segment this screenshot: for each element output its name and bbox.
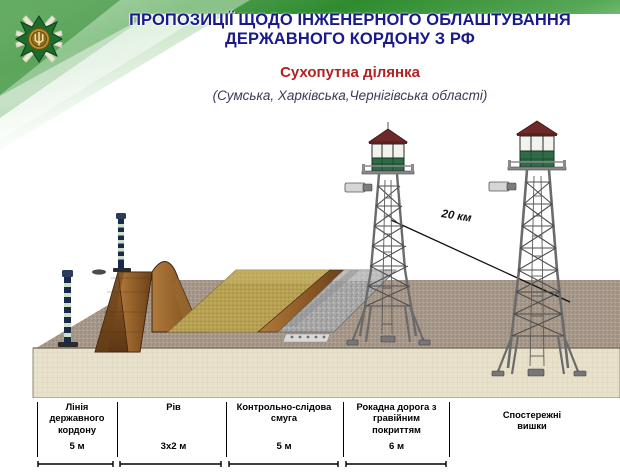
measurement-legend: Лініядержавногокордону 5 м Рів 3х2 м Кон… [0,400,620,465]
legend-dimension-2: 5 м [228,441,340,452]
legend-label-2: Контрольно-слідовасмуга [228,402,340,425]
page-title-line-1: ПРОПОЗИЦІЇ ЩОДО ІНЖЕНЕРНОГО ОБЛАШТУВАННЯ [129,11,571,29]
legend-cell-linia-derzhavnoho-kordonu: Лініядержавногокордону 5 м [38,402,116,460]
legend-dimension-0: 5 м [38,441,116,452]
page-subtitle: Сухопутна ділянка [86,64,614,81]
legend-dimension-3: 6 м [345,441,448,452]
page-regions-note: (Сумська, Харківська,Чернігівська област… [86,88,614,103]
dimension-ticks [0,456,620,465]
page-title: ПРОПОЗИЦІЇ ЩОДО ІНЖЕНЕРНОГО ОБЛАШТУВАННЯ… [86,11,614,49]
legend-separator-3 [343,402,344,457]
legend-cell-kontrolno-slidova-smuha: Контрольно-слідовасмуга 5 м [228,402,340,460]
searchlight-left [345,183,372,192]
page-title-line-2: ДЕРЖАВНОГО КОРДОНУ З РФ [86,30,614,49]
ukrainian-border-guard-cross-emblem [13,13,65,65]
legend-separator-1 [117,402,118,457]
distance-label: 20 км [440,208,473,225]
legend-separator-0 [37,402,38,457]
legend-cell-rokadna-doroha: Рокадна дорога згравійнимпокриттям 6 м [345,402,448,460]
legend-dimension-1: 3х2 м [120,441,227,452]
legend-separator-2 [226,402,227,457]
legend-label-0: Лініядержавногокордону [38,402,116,436]
border-marker-post-far [113,213,131,272]
legend-label-4: Спостережнівишки [452,410,612,433]
slide-root: ПРОПОЗИЦІЇ ЩОДО ІНЖЕНЕРНОГО ОБЛАШТУВАННЯ… [0,0,620,465]
legend-cell-riv: Рів 3х2 м [120,402,227,460]
legend-label-1: Рів [120,402,227,413]
legend-label-3: Рокадна дорога згравійнимпокриттям [345,402,448,436]
border-cross-section-diagram: 20 км [0,120,620,398]
searchlight-right [489,182,516,191]
legend-separator-4 [449,402,450,457]
